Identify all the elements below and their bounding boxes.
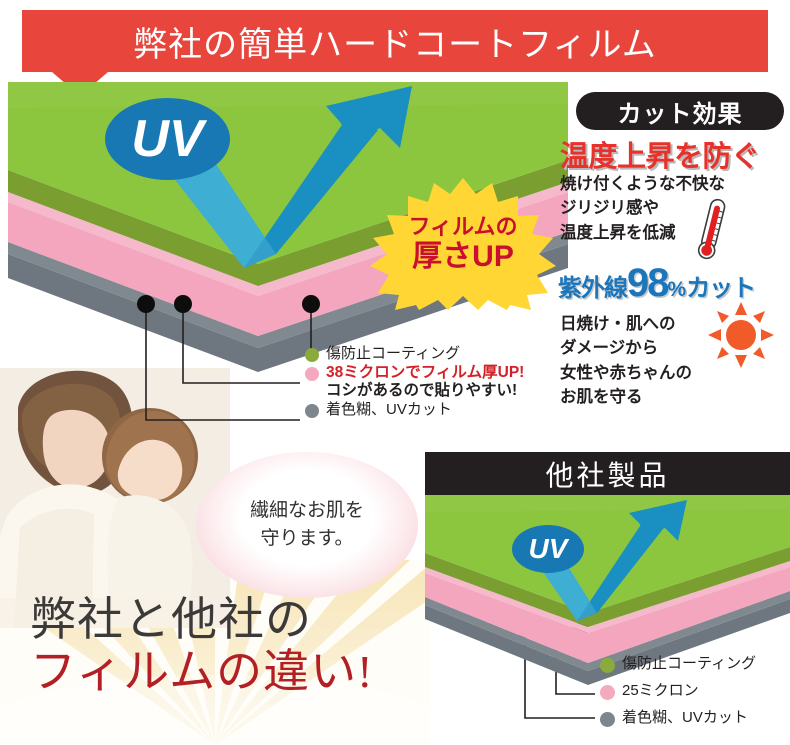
starburst-line2: 厚さUP bbox=[412, 240, 514, 274]
cut-effect-heading: 温度上昇を防ぐ bbox=[560, 133, 790, 175]
bubble-line1: 繊細なお肌を bbox=[250, 497, 364, 525]
cut-effect-pill-label: カット効果 bbox=[618, 94, 743, 129]
header-banner: 弊社の簡単ハードコートフィルム bbox=[22, 10, 768, 72]
uv-cut-heading: 紫外線 98 % カット bbox=[558, 265, 790, 303]
competitor-bar-title: 他社製品 bbox=[425, 452, 790, 495]
legend-row: 着色糊、UVカット bbox=[600, 709, 756, 727]
skin-protect-bubble-text: 繊細なお肌を 守ります。 bbox=[196, 452, 418, 598]
headline-line1: 弊社と他社の bbox=[30, 596, 420, 644]
skin-protect-bubble: 繊細なお肌を 守ります。 bbox=[196, 452, 418, 598]
uv-cut-body-line2: ダメージから bbox=[560, 336, 692, 360]
uv-cut-body: 日焼け・肌への ダメージから 女性や赤ちゃんの お肌を守る bbox=[560, 312, 692, 410]
legend-label-film-main: 38ミクロンでフィルム厚UP! bbox=[326, 364, 524, 382]
starburst-line1: フィルムの bbox=[408, 215, 517, 240]
uv-label-main: UV bbox=[131, 109, 203, 169]
uv-cut-body-line3: 女性や赤ちゃんの bbox=[560, 361, 692, 385]
bubble-line2: 守ります。 bbox=[260, 525, 353, 553]
legend-label-coating: 傷防止コーティング bbox=[622, 655, 756, 673]
infographic-page: 弊社と他社の フィルムの違い! 繊細なお肌を 守ります。 弊社の簡単ハードコート… bbox=[0, 0, 790, 745]
legend-row: 着色糊、UVカット bbox=[305, 401, 524, 419]
legend-label-adhesive: 着色糊、UVカット bbox=[622, 709, 748, 727]
uv-cut-percent: % bbox=[668, 278, 687, 302]
legend-row: 38ミクロンでフィルム厚UP! コシがあるので貼りやすい! bbox=[305, 364, 524, 401]
legend-row: 傷防止コーティング bbox=[600, 655, 756, 673]
legend-label-adhesive: 着色糊、UVカット bbox=[326, 401, 452, 419]
legend-dot-coating bbox=[305, 348, 319, 362]
competitor-bar: 他社製品 bbox=[425, 452, 790, 495]
competitor-layer-legend: 傷防止コーティング 25ミクロン 着色糊、UVカット bbox=[600, 655, 756, 728]
legend-label-film: 38ミクロンでフィルム厚UP! コシがあるので貼りやすい! bbox=[326, 364, 524, 401]
bottom-headline: 弊社と他社の フィルムの違い! bbox=[30, 596, 420, 697]
legend-label-film: 25ミクロン bbox=[622, 682, 699, 700]
sun-icon bbox=[708, 302, 774, 368]
uv-bubble-competitor: UV bbox=[512, 525, 584, 573]
legend-dot-coating bbox=[600, 658, 615, 673]
uv-cut-body-line1: 日焼け・肌への bbox=[560, 312, 692, 336]
legend-row: 傷防止コーティング bbox=[305, 345, 524, 363]
headline-line2: フィルムの違い! bbox=[30, 648, 420, 696]
starburst-text: フィルムの 厚さUP bbox=[368, 178, 558, 310]
thickness-up-starburst: フィルムの 厚さUP bbox=[368, 178, 558, 310]
legend-label-coating: 傷防止コーティング bbox=[326, 345, 460, 363]
thermometer-icon bbox=[694, 196, 730, 262]
legend-label-film-sub: コシがあるので貼りやすい! bbox=[326, 382, 524, 400]
header-title: 弊社の簡単ハードコートフィルム bbox=[22, 10, 768, 72]
uv-cut-prefix: 紫外線 bbox=[558, 268, 627, 303]
uv-label-competitor: UV bbox=[529, 533, 568, 565]
legend-dot-adhesive bbox=[600, 712, 615, 727]
legend-dot-film bbox=[600, 685, 615, 700]
uv-cut-value: 98 bbox=[627, 265, 668, 301]
cut-effect-pill: カット効果 bbox=[576, 92, 784, 130]
legend-dot-film bbox=[305, 367, 319, 381]
uv-cut-suffix: カット bbox=[686, 268, 755, 303]
cut-effect-body-line1: 焼け付くような不快な bbox=[560, 172, 725, 196]
legend-dot-adhesive bbox=[305, 404, 319, 418]
uv-bubble-main: UV bbox=[105, 98, 230, 180]
legend-row: 25ミクロン bbox=[600, 682, 756, 700]
uv-cut-body-line4: お肌を守る bbox=[560, 385, 692, 409]
main-layer-legend: 傷防止コーティング 38ミクロンでフィルム厚UP! コシがあるので貼りやすい! … bbox=[305, 345, 524, 420]
